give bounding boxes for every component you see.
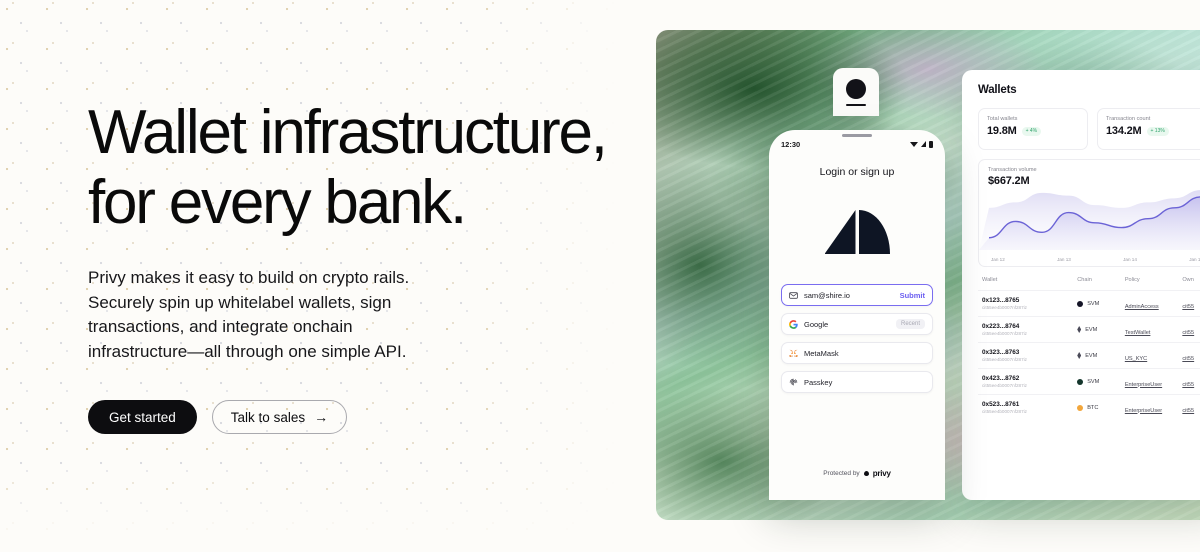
dashboard-title: Wallets bbox=[978, 84, 1200, 96]
metamask-login-option[interactable]: MetaMask bbox=[781, 342, 933, 364]
phone-speaker bbox=[842, 134, 872, 137]
table-row[interactable]: 0x323...8763cit55ee4b0007nf287izEVMUS_KY… bbox=[978, 342, 1200, 368]
passkey-label: Passkey bbox=[804, 378, 925, 387]
wifi-icon bbox=[910, 142, 918, 147]
owner-cell: cit55 bbox=[1182, 347, 1200, 365]
svm-chain-icon bbox=[1077, 301, 1083, 307]
cta-row: Get started Talk to sales → bbox=[88, 400, 648, 434]
chain-label: BTC bbox=[1087, 405, 1098, 411]
wallet-cell: 0x223...8764cit55ee4b0007nf287iz bbox=[982, 323, 1077, 336]
wallet-cell: 0x123...8765cit55ee4b0007nf287iz bbox=[982, 297, 1077, 310]
passkey-icon bbox=[789, 378, 798, 387]
chain-label: EVM bbox=[1085, 353, 1097, 359]
avatar bbox=[846, 79, 866, 99]
stat-card-transaction-count: Transaction count 134.2M + 13% bbox=[1097, 108, 1200, 150]
hero-section: Wallet infrastructure, for every bank. P… bbox=[88, 98, 648, 434]
phone-mockup: 12:30 Login or sign up sam@shire.io Subm… bbox=[769, 130, 945, 500]
wallet-id: cit55ee4b0007nf287iz bbox=[982, 331, 1077, 336]
policy-cell: EnterpriseUser bbox=[1125, 399, 1183, 417]
privy-logo bbox=[769, 208, 945, 256]
chain-label: SVM bbox=[1087, 379, 1099, 385]
x-tick: Jan 15 bbox=[1189, 257, 1200, 262]
login-options-list: sam@shire.io Submit Google Recent bbox=[769, 284, 945, 393]
wallet-id: cit55ee4b0007nf287iz bbox=[982, 305, 1077, 310]
recent-badge: Recent bbox=[896, 319, 925, 329]
stat-delta-badge: + 13% bbox=[1147, 127, 1169, 136]
chain-label: EVM bbox=[1085, 327, 1097, 333]
stat-label: Transaction count bbox=[1106, 116, 1198, 122]
chain-cell: EVM bbox=[1077, 326, 1125, 333]
wallet-cell: 0x323...8763cit55ee4b0007nf287iz bbox=[982, 349, 1077, 362]
background-fade-bottom bbox=[0, 462, 660, 552]
wallets-table: Wallet Chain Policy Own 0x123...8765cit5… bbox=[978, 277, 1200, 420]
stat-label: Total wallets bbox=[987, 116, 1079, 122]
headline-line-1: Wallet infrastructure, bbox=[88, 98, 606, 167]
table-row[interactable]: 0x223...8764cit55ee4b0007nf287izEVMTestW… bbox=[978, 316, 1200, 342]
headline-line-2: for every bank. bbox=[88, 168, 465, 237]
wallet-address: 0x423...8762 bbox=[982, 375, 1077, 382]
x-tick: Jan 12 bbox=[991, 257, 1005, 262]
google-icon bbox=[789, 320, 798, 329]
login-title: Login or sign up bbox=[769, 166, 945, 178]
stat-value: 19.8M bbox=[987, 125, 1017, 137]
column-header-policy: Policy bbox=[1125, 277, 1183, 283]
policy-cell: TestWallet bbox=[1125, 321, 1183, 339]
chain-label: SVM bbox=[1087, 301, 1099, 307]
table-header-row: Wallet Chain Policy Own bbox=[978, 277, 1200, 290]
signal-icon bbox=[921, 141, 926, 147]
arrow-right-icon: → bbox=[314, 410, 328, 424]
google-label: Google bbox=[804, 320, 890, 329]
x-tick: Jan 14 bbox=[1123, 257, 1137, 262]
svm-chain-icon bbox=[1077, 379, 1083, 385]
owner-link[interactable]: cit55 bbox=[1182, 356, 1194, 362]
passkey-login-option[interactable]: Passkey bbox=[781, 371, 933, 393]
wallet-cell: 0x523...8761cit55ee4b0007nf287iz bbox=[982, 401, 1077, 414]
column-header-wallet: Wallet bbox=[982, 277, 1077, 283]
chain-cell: BTC bbox=[1077, 405, 1125, 411]
talk-to-sales-button[interactable]: Talk to sales → bbox=[212, 400, 347, 434]
owner-link[interactable]: cit55 bbox=[1182, 408, 1194, 414]
column-header-chain: Chain bbox=[1077, 277, 1125, 283]
owner-cell: cit55 bbox=[1182, 373, 1200, 391]
privy-brand-label: privy bbox=[873, 469, 891, 478]
owner-link[interactable]: cit55 bbox=[1182, 382, 1194, 388]
talk-to-sales-label: Talk to sales bbox=[231, 410, 305, 425]
owner-cell: cit55 bbox=[1182, 295, 1200, 313]
stat-card-row: Total wallets 19.8M + 4% Transaction cou… bbox=[978, 108, 1200, 150]
owner-cell: cit55 bbox=[1182, 399, 1200, 417]
wallet-address: 0x223...8764 bbox=[982, 323, 1077, 330]
wallet-id: cit55ee4b0007nf287iz bbox=[982, 409, 1077, 414]
wallet-address: 0x123...8765 bbox=[982, 297, 1077, 304]
wallet-address: 0x523...8761 bbox=[982, 401, 1077, 408]
owner-link[interactable]: cit55 bbox=[1182, 330, 1194, 336]
get-started-button[interactable]: Get started bbox=[88, 400, 197, 434]
status-time: 12:30 bbox=[781, 140, 800, 149]
area-chart bbox=[979, 178, 1200, 250]
protected-by-label: Protected by bbox=[823, 470, 860, 477]
stat-card-total-wallets: Total wallets 19.8M + 4% bbox=[978, 108, 1088, 150]
notification-chip bbox=[833, 68, 879, 116]
logo-triangle-shape bbox=[825, 210, 856, 254]
transaction-volume-chart-card: Transaction volume $667.2M bbox=[978, 159, 1200, 267]
evm-chain-icon bbox=[1077, 352, 1081, 359]
stat-value: 134.2M bbox=[1106, 125, 1142, 137]
chain-cell: SVM bbox=[1077, 301, 1125, 307]
table-row[interactable]: 0x523...8761cit55ee4b0007nf287izBTCEnter… bbox=[978, 394, 1200, 420]
policy-cell: AdminAccess bbox=[1125, 295, 1183, 313]
owner-link[interactable]: cit55 bbox=[1182, 304, 1194, 310]
stat-delta-badge: + 4% bbox=[1022, 127, 1042, 136]
table-row[interactable]: 0x423...8762cit55ee4b0007nf287izSVMEnter… bbox=[978, 368, 1200, 394]
column-header-owner: Own bbox=[1182, 277, 1200, 283]
policy-link[interactable]: EnterpriseUser bbox=[1125, 382, 1162, 388]
policy-link[interactable]: AdminAccess bbox=[1125, 304, 1159, 310]
wallet-id: cit55ee4b0007nf287iz bbox=[982, 357, 1077, 362]
policy-cell: EnterpriseUser bbox=[1125, 373, 1183, 391]
wallet-id: cit55ee4b0007nf287iz bbox=[982, 383, 1077, 388]
policy-link[interactable]: TestWallet bbox=[1125, 330, 1151, 336]
notification-bar bbox=[846, 104, 866, 107]
table-body: 0x123...8765cit55ee4b0007nf287izSVMAdmin… bbox=[978, 290, 1200, 420]
table-row[interactable]: 0x123...8765cit55ee4b0007nf287izSVMAdmin… bbox=[978, 290, 1200, 316]
submit-button[interactable]: Submit bbox=[900, 291, 925, 300]
page-title: Wallet infrastructure, for every bank. bbox=[88, 98, 648, 238]
hero-subcopy: Privy makes it easy to build on crypto r… bbox=[88, 266, 433, 364]
policy-cell: US_KYC bbox=[1125, 347, 1183, 365]
wallet-cell: 0x423...8762cit55ee4b0007nf287iz bbox=[982, 375, 1077, 388]
metamask-label: MetaMask bbox=[804, 349, 925, 358]
policy-link[interactable]: US_KYC bbox=[1125, 356, 1147, 362]
owner-cell: cit55 bbox=[1182, 321, 1200, 339]
wallets-dashboard-card: Wallets Total wallets 19.8M + 4% Transac… bbox=[962, 70, 1200, 500]
logo-quarter-circle-shape bbox=[859, 210, 890, 254]
landing-page: Wallet infrastructure, for every bank. P… bbox=[0, 0, 1200, 552]
chain-cell: EVM bbox=[1077, 352, 1125, 359]
policy-link[interactable]: EnterpriseUser bbox=[1125, 408, 1162, 414]
email-login-option[interactable]: sam@shire.io Submit bbox=[781, 284, 933, 306]
x-tick: Jan 13 bbox=[1057, 257, 1071, 262]
envelope-icon bbox=[789, 291, 798, 300]
btc-chain-icon bbox=[1077, 405, 1083, 411]
chart-label: Transaction volume bbox=[988, 167, 1200, 173]
chain-cell: SVM bbox=[1077, 379, 1125, 385]
google-login-option[interactable]: Google Recent bbox=[781, 313, 933, 335]
chart-x-axis-ticks: Jan 12 Jan 13 Jan 14 Jan 15 bbox=[991, 257, 1200, 262]
privy-mark-icon bbox=[864, 471, 869, 476]
metamask-icon bbox=[789, 349, 798, 358]
wallet-address: 0x323...8763 bbox=[982, 349, 1077, 356]
battery-icon bbox=[929, 141, 933, 148]
evm-chain-icon bbox=[1077, 326, 1081, 333]
email-field[interactable]: sam@shire.io bbox=[804, 291, 894, 300]
protected-by-footer: Protected by privy bbox=[769, 469, 945, 478]
